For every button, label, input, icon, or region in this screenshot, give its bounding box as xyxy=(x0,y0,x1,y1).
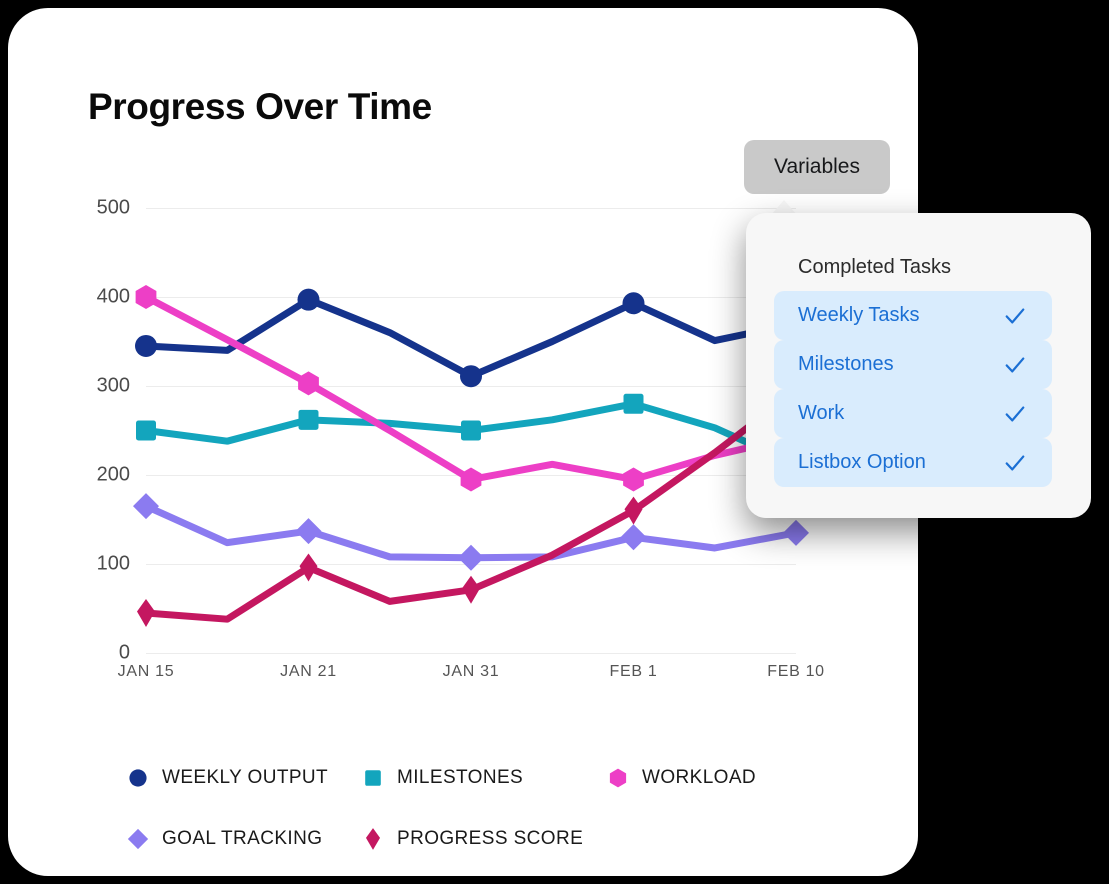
x-axis-tick-label: FEB 10 xyxy=(767,663,825,681)
variables-button[interactable]: Variables xyxy=(744,140,890,194)
series-marker xyxy=(136,285,157,309)
series-marker xyxy=(298,289,320,311)
series-marker xyxy=(625,497,643,525)
series-marker xyxy=(623,467,644,491)
series-marker xyxy=(624,394,644,414)
x-axis-tick-label: FEB 1 xyxy=(610,663,658,681)
hexagon-marker-icon xyxy=(606,766,630,790)
legend-item[interactable]: PROGRESS SCORE xyxy=(361,827,583,851)
y-axis-tick-label: 300 xyxy=(60,375,130,398)
x-axis-tick-label: JAN 15 xyxy=(118,663,175,681)
circle-marker-icon xyxy=(126,766,150,790)
page-title: Progress Over Time xyxy=(88,86,432,128)
series-line xyxy=(146,300,796,377)
series-marker xyxy=(621,524,647,550)
popover-heading: Completed Tasks xyxy=(798,256,951,279)
chart-series-goal-tracking xyxy=(133,493,809,571)
series-marker xyxy=(296,518,322,544)
option-item[interactable]: Milestones xyxy=(774,340,1052,389)
series-marker xyxy=(298,371,319,395)
y-axis-tick-label: 0 xyxy=(60,642,130,665)
legend-item[interactable]: GOAL TRACKING xyxy=(126,827,322,851)
y-axis-tick-label: 100 xyxy=(60,553,130,576)
check-icon xyxy=(1004,354,1026,376)
series-marker xyxy=(136,421,156,441)
option-item[interactable]: Work xyxy=(774,389,1052,438)
series-marker xyxy=(299,410,319,430)
series-marker xyxy=(461,421,481,441)
legend-item-label: GOAL TRACKING xyxy=(162,828,322,850)
series-marker xyxy=(135,335,157,357)
legend-item[interactable]: WEEKLY OUTPUT xyxy=(126,766,328,790)
chart-series-weekly-output xyxy=(135,289,807,388)
square-marker-icon xyxy=(361,766,385,790)
chart-plot-area: 0100200300400500 JAN 15JAN 21JAN 31FEB 1… xyxy=(146,208,796,653)
option-item-label: Weekly Tasks xyxy=(798,304,920,327)
legend-item[interactable]: WORKLOAD xyxy=(606,766,756,790)
series-marker xyxy=(137,599,155,627)
series-line xyxy=(146,297,796,479)
diamond-marker-icon xyxy=(126,827,150,851)
x-axis-tick-label: JAN 21 xyxy=(280,663,337,681)
x-axis-tick-label: JAN 31 xyxy=(443,663,500,681)
series-marker xyxy=(133,493,159,519)
y-axis-tick-label: 400 xyxy=(60,286,130,309)
legend-item-label: PROGRESS SCORE xyxy=(397,828,583,850)
series-marker xyxy=(460,365,482,387)
legend-item-label: WORKLOAD xyxy=(642,767,756,789)
variables-popover: Completed Tasks Weekly TasksMilestonesWo… xyxy=(746,213,1091,518)
option-item-label: Milestones xyxy=(798,353,894,376)
series-marker xyxy=(783,520,809,546)
series-marker xyxy=(300,554,318,582)
check-icon xyxy=(1004,305,1026,327)
check-icon xyxy=(1004,452,1026,474)
option-item[interactable]: Weekly Tasks xyxy=(774,291,1052,340)
chart-series-layer xyxy=(146,208,796,653)
legend-item-label: MILESTONES xyxy=(397,767,523,789)
gridline xyxy=(146,653,796,654)
screenshot-root: Progress Over Time 0100200300400500 JAN … xyxy=(0,0,1109,884)
chart-legend: WEEKLY OUTPUTMILESTONESWORKLOADGOAL TRAC… xyxy=(126,766,846,806)
option-item[interactable]: Listbox Option xyxy=(774,438,1052,487)
series-marker xyxy=(458,545,484,571)
legend-item[interactable]: MILESTONES xyxy=(361,766,523,790)
series-marker xyxy=(623,292,645,314)
option-item-label: Listbox Option xyxy=(798,451,926,474)
series-marker xyxy=(462,576,480,604)
legend-item-label: WEEKLY OUTPUT xyxy=(162,767,328,789)
y-axis-tick-label: 200 xyxy=(60,464,130,487)
chart-series-progress-score xyxy=(137,376,805,627)
option-item-label: Work xyxy=(798,402,844,425)
narrow-diamond-marker-icon xyxy=(361,827,385,851)
check-icon xyxy=(1004,403,1026,425)
option-list: Weekly TasksMilestonesWorkListbox Option xyxy=(774,291,1052,487)
y-axis-tick-label: 500 xyxy=(60,197,130,220)
